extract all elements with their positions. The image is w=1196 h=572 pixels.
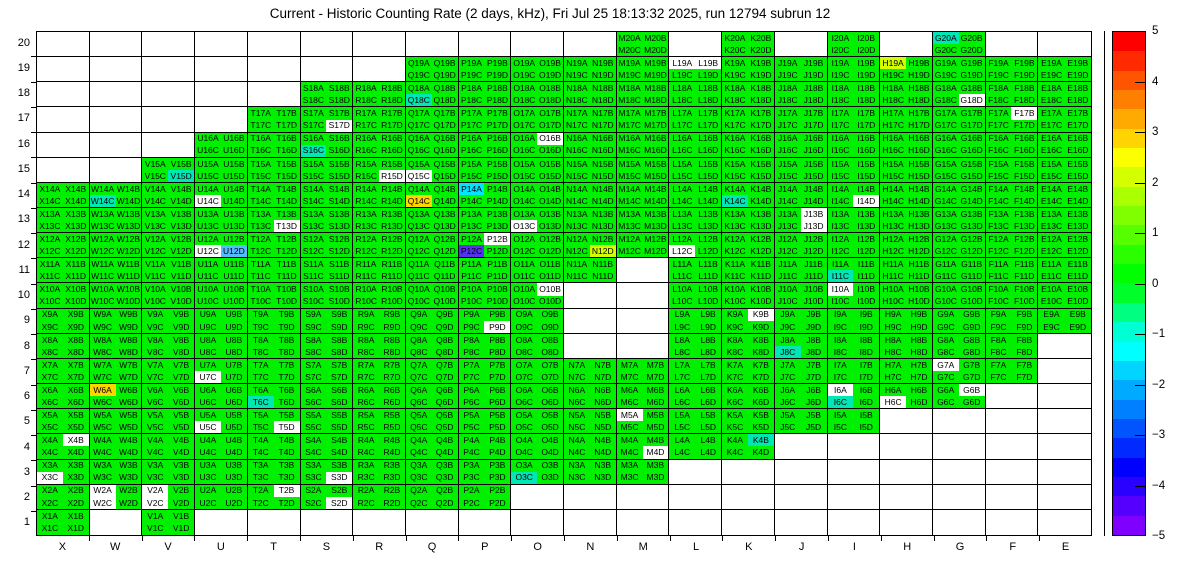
detector-channel[interactable]: U11B xyxy=(221,258,247,270)
detector-channel[interactable]: I12B xyxy=(853,233,879,245)
detector-channel[interactable]: M7C xyxy=(617,371,643,383)
detector-channel[interactable]: W3D xyxy=(116,472,142,484)
detector-channel[interactable]: L12A xyxy=(669,233,695,245)
detector-channel[interactable]: U16A xyxy=(195,133,221,145)
detector-channel[interactable]: V7B xyxy=(168,359,194,371)
detector-channel[interactable]: Q9C xyxy=(406,321,432,333)
detector-channel[interactable]: O17D xyxy=(537,120,563,132)
detector-channel[interactable]: K20D xyxy=(748,44,774,56)
detector-channel[interactable]: U14B xyxy=(221,183,247,195)
detector-channel[interactable]: N17C xyxy=(564,120,590,132)
detector-channel[interactable]: X5C xyxy=(37,421,63,433)
detector-module[interactable]: X5AX5BX5CX5D xyxy=(37,409,90,434)
detector-channel[interactable]: Q3C xyxy=(406,472,432,484)
detector-channel[interactable]: O12D xyxy=(537,245,563,257)
detector-module[interactable]: T4AT4BT4CT4D xyxy=(248,434,301,459)
detector-channel[interactable]: G20D xyxy=(959,44,985,56)
detector-module[interactable]: K15AK15BK15CK15D xyxy=(722,158,775,183)
detector-channel[interactable]: R17C xyxy=(353,120,379,132)
detector-channel[interactable]: R5A xyxy=(353,409,379,421)
detector-channel[interactable]: N5C xyxy=(564,421,590,433)
detector-channel[interactable]: R13A xyxy=(353,208,379,220)
detector-channel[interactable]: U4C xyxy=(195,446,221,458)
detector-channel[interactable]: N12A xyxy=(564,233,590,245)
detector-channel[interactable]: L15C xyxy=(669,170,695,182)
detector-channel[interactable]: J18D xyxy=(801,94,827,106)
detector-channel[interactable]: I18C xyxy=(828,94,854,106)
detector-channel[interactable]: O12B xyxy=(537,233,563,245)
detector-channel[interactable]: Q9D xyxy=(432,321,458,333)
detector-channel[interactable]: I11B xyxy=(853,258,879,270)
detector-channel[interactable]: R18D xyxy=(379,94,405,106)
detector-channel[interactable]: O10D xyxy=(537,296,563,308)
detector-channel[interactable]: J10A xyxy=(775,283,801,295)
detector-channel[interactable]: Q11C xyxy=(406,270,432,282)
detector-channel[interactable]: V7A xyxy=(142,359,168,371)
detector-channel[interactable]: R9B xyxy=(379,309,405,321)
detector-channel[interactable]: F9B xyxy=(1011,309,1037,321)
detector-module[interactable]: S17AS17BS17CS17D xyxy=(301,107,354,132)
detector-channel[interactable]: U8B xyxy=(221,334,247,346)
detector-channel[interactable]: N11A xyxy=(564,258,590,270)
detector-channel[interactable]: S6D xyxy=(326,396,352,408)
detector-channel[interactable]: G7A xyxy=(933,359,959,371)
detector-channel[interactable]: V14B xyxy=(168,183,194,195)
detector-channel[interactable]: X4C xyxy=(37,446,63,458)
detector-channel[interactable]: I13C xyxy=(828,220,854,232)
detector-channel[interactable]: T3B xyxy=(274,460,300,472)
detector-channel[interactable]: L18D xyxy=(695,94,721,106)
detector-channel[interactable]: O4C xyxy=(511,446,537,458)
detector-channel[interactable]: M17B xyxy=(643,107,669,119)
detector-channel[interactable]: K12B xyxy=(748,233,774,245)
detector-channel[interactable]: S6B xyxy=(326,384,352,396)
detector-module[interactable]: U10AU10BU10CU10D xyxy=(195,283,248,308)
detector-channel[interactable]: F11B xyxy=(1011,258,1037,270)
detector-channel[interactable]: O7A xyxy=(511,359,537,371)
detector-channel[interactable]: G9A xyxy=(933,309,959,321)
detector-channel[interactable]: P2C xyxy=(459,497,485,509)
detector-channel[interactable]: M16B xyxy=(643,133,669,145)
detector-channel[interactable]: H6B xyxy=(906,384,932,396)
detector-channel[interactable]: Q2A xyxy=(406,485,432,497)
detector-module[interactable]: J12AJ12BJ12CJ12D xyxy=(775,233,828,258)
detector-channel[interactable]: P5A xyxy=(459,409,485,421)
detector-channel[interactable]: Q8C xyxy=(406,346,432,358)
detector-module[interactable]: Q14AQ14BQ14CQ14D xyxy=(406,183,459,208)
detector-channel[interactable]: X1A xyxy=(37,510,63,523)
detector-channel[interactable]: F15C xyxy=(986,170,1012,182)
detector-channel[interactable]: K18C xyxy=(722,94,748,106)
detector-channel[interactable]: I11C xyxy=(828,270,854,282)
detector-channel[interactable]: P12B xyxy=(484,233,510,245)
detector-channel[interactable]: U4B xyxy=(221,434,247,446)
detector-module[interactable]: T13AT13BT13CT13D xyxy=(248,208,301,233)
detector-channel[interactable]: N13A xyxy=(564,208,590,220)
detector-channel[interactable]: R7C xyxy=(353,371,379,383)
detector-channel[interactable]: J7C xyxy=(775,371,801,383)
detector-module[interactable]: M3AM3BM3CM3D xyxy=(617,460,670,485)
detector-channel[interactable]: S3C xyxy=(301,472,327,484)
detector-channel[interactable]: J13B xyxy=(801,208,827,220)
detector-channel[interactable]: H10A xyxy=(880,283,906,295)
detector-channel[interactable]: E10C xyxy=(1038,296,1064,308)
detector-module[interactable]: K6AK6BK6CK6D xyxy=(722,384,775,409)
detector-channel[interactable]: I12D xyxy=(853,245,879,257)
detector-channel[interactable]: T6A xyxy=(248,384,274,396)
detector-channel[interactable]: P7D xyxy=(484,371,510,383)
detector-channel[interactable]: J7A xyxy=(775,359,801,371)
detector-channel[interactable]: G11A xyxy=(933,258,959,270)
detector-channel[interactable]: H13D xyxy=(906,220,932,232)
detector-module[interactable]: U6AU6BU6CU6D xyxy=(195,384,248,409)
detector-channel[interactable]: K15C xyxy=(722,170,748,182)
detector-module[interactable]: J11AJ11BJ11CJ11D xyxy=(775,258,828,283)
detector-channel[interactable]: P15C xyxy=(459,170,485,182)
detector-channel[interactable]: N16C xyxy=(564,145,590,157)
detector-channel[interactable]: S8C xyxy=(301,346,327,358)
detector-channel[interactable]: L8C xyxy=(669,346,695,358)
detector-channel[interactable]: U11A xyxy=(195,258,221,270)
detector-channel[interactable]: V15A xyxy=(142,158,168,170)
detector-channel[interactable]: I15B xyxy=(853,158,879,170)
detector-channel[interactable]: F18A xyxy=(986,82,1012,94)
detector-module[interactable]: G17AG17BG17CG17D xyxy=(933,107,986,132)
detector-module[interactable]: T7AT7BT7CT7D xyxy=(248,359,301,384)
detector-channel[interactable]: T13D xyxy=(274,220,300,232)
detector-channel[interactable]: H19A xyxy=(880,57,906,69)
detector-channel[interactable]: P13B xyxy=(484,208,510,220)
detector-channel[interactable]: I18D xyxy=(853,94,879,106)
detector-module[interactable]: E10AE10BE10CE10D xyxy=(1038,283,1091,308)
detector-channel[interactable]: R2D xyxy=(379,497,405,509)
detector-module[interactable]: K13AK13BK13CK13D xyxy=(722,208,775,233)
detector-channel[interactable]: Q5B xyxy=(432,409,458,421)
detector-channel[interactable]: S2A xyxy=(301,485,327,497)
detector-channel[interactable]: T15C xyxy=(248,170,274,182)
detector-channel[interactable]: H15D xyxy=(906,170,932,182)
detector-channel[interactable]: P16A xyxy=(459,133,485,145)
detector-channel[interactable]: L4A xyxy=(669,434,695,446)
detector-channel[interactable]: K14A xyxy=(722,183,748,195)
detector-channel[interactable]: G13D xyxy=(959,220,985,232)
detector-module[interactable]: O15AO15BO15CO15D xyxy=(511,158,564,183)
detector-channel[interactable]: G17A xyxy=(933,107,959,119)
detector-channel[interactable]: V15D xyxy=(168,170,194,182)
detector-channel[interactable]: U6C xyxy=(195,396,221,408)
detector-module[interactable]: P11AP11BP11CP11D xyxy=(459,258,512,283)
detector-channel[interactable]: T9A xyxy=(248,309,274,321)
detector-channel[interactable]: O11D xyxy=(537,270,563,282)
detector-channel[interactable]: F13C xyxy=(986,220,1012,232)
detector-channel[interactable]: Q19A xyxy=(406,57,432,69)
detector-channel[interactable]: M3C xyxy=(617,472,643,484)
detector-module[interactable]: O5AO5BO5CO5D xyxy=(511,409,564,434)
detector-channel[interactable]: U8C xyxy=(195,346,221,358)
detector-channel[interactable]: W14C xyxy=(90,195,116,207)
detector-channel[interactable]: I19B xyxy=(853,57,879,69)
detector-channel[interactable]: K14C xyxy=(722,195,748,207)
detector-channel[interactable]: G12C xyxy=(933,245,959,257)
detector-channel[interactable]: U2C xyxy=(195,497,221,509)
detector-channel[interactable]: P6A xyxy=(459,384,485,396)
detector-module[interactable]: O8AO8BO8CO8D xyxy=(511,334,564,359)
detector-channel[interactable]: R6D xyxy=(379,396,405,408)
detector-channel[interactable]: G14C xyxy=(933,195,959,207)
detector-channel[interactable]: K17D xyxy=(748,120,774,132)
detector-channel[interactable]: J12B xyxy=(801,233,827,245)
detector-channel[interactable]: Q14B xyxy=(432,183,458,195)
detector-module[interactable]: U13AU13BU13CU13D xyxy=(195,208,248,233)
detector-channel[interactable]: Q2C xyxy=(406,497,432,509)
detector-channel[interactable]: F8B xyxy=(1011,334,1037,346)
detector-channel[interactable]: M20A xyxy=(617,32,643,44)
detector-channel[interactable]: J6C xyxy=(775,396,801,408)
detector-channel[interactable]: J8C xyxy=(775,346,801,358)
detector-channel[interactable]: R16C xyxy=(353,145,379,157)
detector-channel[interactable]: T15D xyxy=(274,170,300,182)
detector-channel[interactable]: G10A xyxy=(933,283,959,295)
detector-channel[interactable]: X12D xyxy=(63,245,89,257)
detector-module[interactable]: U11AU11BU11CU11D xyxy=(195,258,248,283)
detector-channel[interactable]: E11D xyxy=(1065,270,1091,282)
detector-channel[interactable]: N14B xyxy=(590,183,616,195)
detector-module[interactable]: O14AO14BO14CO14D xyxy=(511,183,564,208)
detector-channel[interactable]: G19C xyxy=(933,69,959,81)
detector-channel[interactable]: Q5C xyxy=(406,421,432,433)
detector-channel[interactable]: X9D xyxy=(63,321,89,333)
detector-channel[interactable]: I5B xyxy=(853,409,879,421)
detector-module[interactable]: Q17AQ17BQ17CQ17D xyxy=(406,107,459,132)
detector-channel[interactable]: V14A xyxy=(142,183,168,195)
detector-channel[interactable]: E9B xyxy=(1065,309,1091,321)
detector-channel[interactable]: W4A xyxy=(90,434,116,446)
detector-channel[interactable]: G6D xyxy=(959,396,985,408)
detector-channel[interactable]: M14D xyxy=(643,195,669,207)
detector-channel[interactable]: J18A xyxy=(775,82,801,94)
detector-channel[interactable]: E13C xyxy=(1038,220,1064,232)
detector-channel[interactable]: S5A xyxy=(301,409,327,421)
detector-channel[interactable]: W10B xyxy=(116,283,142,295)
detector-module[interactable]: V7AV7BV7CV7D xyxy=(142,359,195,384)
detector-module[interactable]: H11AH11BH11CH11D xyxy=(880,258,933,283)
detector-channel[interactable]: N11D xyxy=(590,270,616,282)
detector-channel[interactable]: F10C xyxy=(986,296,1012,308)
detector-channel[interactable]: T3D xyxy=(274,472,300,484)
detector-channel[interactable]: K16D xyxy=(748,145,774,157)
detector-channel[interactable]: U7D xyxy=(221,371,247,383)
detector-channel[interactable]: J16A xyxy=(775,133,801,145)
detector-channel[interactable]: E17C xyxy=(1038,120,1064,132)
detector-channel[interactable]: R16B xyxy=(379,133,405,145)
detector-channel[interactable]: L4C xyxy=(669,446,695,458)
detector-channel[interactable]: W9B xyxy=(116,309,142,321)
detector-channel[interactable]: F16B xyxy=(1011,133,1037,145)
detector-channel[interactable]: H9A xyxy=(880,309,906,321)
detector-channel[interactable]: I16C xyxy=(828,145,854,157)
detector-module[interactable]: E13AE13BE13CE13D xyxy=(1038,208,1091,233)
detector-channel[interactable]: H18A xyxy=(880,82,906,94)
detector-channel[interactable]: X3A xyxy=(37,460,63,472)
detector-channel[interactable]: E9A xyxy=(1038,309,1064,321)
detector-module[interactable]: P10AP10BP10CP10D xyxy=(459,283,512,308)
detector-channel[interactable]: Q18A xyxy=(406,82,432,94)
detector-module[interactable]: I11AI11BI11CI11D xyxy=(828,258,881,283)
detector-channel[interactable]: P14A xyxy=(459,183,485,195)
detector-channel[interactable]: N3A xyxy=(564,460,590,472)
detector-channel[interactable]: H18D xyxy=(906,94,932,106)
detector-channel[interactable]: H14B xyxy=(906,183,932,195)
detector-channel[interactable]: J8A xyxy=(775,334,801,346)
detector-channel[interactable]: G8C xyxy=(933,346,959,358)
detector-channel[interactable]: R17D xyxy=(379,120,405,132)
detector-channel[interactable]: M4D xyxy=(643,446,669,458)
detector-channel[interactable]: M15B xyxy=(643,158,669,170)
detector-channel[interactable]: V4D xyxy=(168,446,194,458)
detector-module[interactable]: S5AS5BS5CS5D xyxy=(301,409,354,434)
detector-channel[interactable]: O4D xyxy=(537,446,563,458)
detector-channel[interactable]: L9C xyxy=(669,321,695,333)
detector-module[interactable]: E14AE14BE14CE14D xyxy=(1038,183,1091,208)
detector-channel[interactable]: K10D xyxy=(748,296,774,308)
detector-channel[interactable]: H17A xyxy=(880,107,906,119)
detector-channel[interactable]: P3D xyxy=(484,472,510,484)
detector-channel[interactable]: F14B xyxy=(1011,183,1037,195)
detector-module[interactable]: U16AU16BU16CU16D xyxy=(195,133,248,158)
detector-channel[interactable]: P11C xyxy=(459,270,485,282)
detector-channel[interactable]: W7C xyxy=(90,371,116,383)
detector-module[interactable]: S11AS11BS11CS11D xyxy=(301,258,354,283)
detector-channel[interactable]: W6C xyxy=(90,396,116,408)
detector-channel[interactable]: K13C xyxy=(722,220,748,232)
detector-channel[interactable]: R12B xyxy=(379,233,405,245)
detector-channel[interactable]: E10B xyxy=(1065,283,1091,295)
detector-channel[interactable]: L6B xyxy=(695,384,721,396)
detector-channel[interactable]: L13C xyxy=(669,220,695,232)
detector-module[interactable]: W3AW3BW3CW3D xyxy=(90,460,143,485)
detector-channel[interactable]: T12B xyxy=(274,233,300,245)
detector-channel[interactable]: Q2B xyxy=(432,485,458,497)
detector-module[interactable]: N15AN15BN15CN15D xyxy=(564,158,617,183)
detector-channel[interactable]: J6D xyxy=(801,396,827,408)
detector-channel[interactable]: Q17B xyxy=(432,107,458,119)
detector-channel[interactable]: O5D xyxy=(537,421,563,433)
detector-channel[interactable]: K19B xyxy=(748,57,774,69)
detector-channel[interactable]: S15A xyxy=(301,158,327,170)
detector-module[interactable]: N17AN17BN17CN17D xyxy=(564,107,617,132)
detector-module[interactable]: S6AS6BS6CS6D xyxy=(301,384,354,409)
detector-channel[interactable]: T17C xyxy=(248,120,274,132)
detector-module[interactable]: N12AN12BN12CN12D xyxy=(564,233,617,258)
detector-channel[interactable]: H10C xyxy=(880,296,906,308)
detector-channel[interactable]: U16B xyxy=(221,133,247,145)
detector-channel[interactable]: N4A xyxy=(564,434,590,446)
detector-channel[interactable]: M15A xyxy=(617,158,643,170)
detector-channel[interactable]: M6B xyxy=(643,384,669,396)
detector-channel[interactable]: T16B xyxy=(274,133,300,145)
detector-channel[interactable]: E15C xyxy=(1038,170,1064,182)
detector-channel[interactable]: O19A xyxy=(511,57,537,69)
detector-channel[interactable]: R8A xyxy=(353,334,379,346)
detector-channel[interactable]: S2D xyxy=(326,497,352,509)
detector-channel[interactable]: E12D xyxy=(1065,245,1091,257)
detector-module[interactable]: O7AO7BO7CO7D xyxy=(511,359,564,384)
detector-channel[interactable]: O3C xyxy=(511,472,537,484)
detector-channel[interactable]: V5A xyxy=(142,409,168,421)
detector-channel[interactable]: R16D xyxy=(379,145,405,157)
detector-channel[interactable]: J7B xyxy=(801,359,827,371)
detector-module[interactable]: Q13AQ13BQ13CQ13D xyxy=(406,208,459,233)
detector-channel[interactable]: J17D xyxy=(801,120,827,132)
detector-channel[interactable]: V9A xyxy=(142,309,168,321)
detector-module[interactable]: X10AX10BX10CX10D xyxy=(37,283,90,308)
detector-channel[interactable]: M16C xyxy=(617,145,643,157)
detector-channel[interactable]: L9A xyxy=(669,309,695,321)
detector-channel[interactable]: K7D xyxy=(748,371,774,383)
detector-channel[interactable]: N11C xyxy=(564,270,590,282)
detector-channel[interactable]: X7D xyxy=(63,371,89,383)
detector-module[interactable]: X1AX1BX1CX1D xyxy=(37,510,90,535)
detector-channel[interactable]: X12C xyxy=(37,245,63,257)
detector-channel[interactable]: V3D xyxy=(168,472,194,484)
detector-channel[interactable]: S14D xyxy=(326,195,352,207)
detector-channel[interactable]: G8A xyxy=(933,334,959,346)
detector-channel[interactable]: K8C xyxy=(722,346,748,358)
detector-module[interactable]: V8AV8BV8CV8D xyxy=(142,334,195,359)
detector-channel[interactable]: T4B xyxy=(274,434,300,446)
detector-channel[interactable]: N17A xyxy=(564,107,590,119)
detector-channel[interactable]: L15B xyxy=(695,158,721,170)
detector-channel[interactable]: G9D xyxy=(959,321,985,333)
detector-module[interactable]: G10AG10BG10CG10D xyxy=(933,283,986,308)
detector-channel[interactable]: N7B xyxy=(590,359,616,371)
detector-channel[interactable]: X5A xyxy=(37,409,63,421)
detector-channel[interactable]: T8D xyxy=(274,346,300,358)
detector-channel[interactable]: F7D xyxy=(1011,371,1037,383)
detector-channel[interactable]: R15B xyxy=(379,158,405,170)
detector-channel[interactable]: V8C xyxy=(142,346,168,358)
detector-channel[interactable]: X1C xyxy=(37,522,63,535)
detector-channel[interactable]: P5D xyxy=(484,421,510,433)
detector-channel[interactable]: W4D xyxy=(116,446,142,458)
detector-channel[interactable]: L5D xyxy=(695,421,721,433)
detector-channel[interactable]: I9A xyxy=(828,309,854,321)
detector-channel[interactable]: K8D xyxy=(748,346,774,358)
detector-channel[interactable]: X2C xyxy=(37,497,63,509)
detector-channel[interactable]: W13C xyxy=(90,220,116,232)
detector-channel[interactable]: H14C xyxy=(880,195,906,207)
detector-module[interactable]: L17AL17BL17CL17D xyxy=(669,107,722,132)
detector-channel[interactable]: K6D xyxy=(748,396,774,408)
detector-channel[interactable]: J17A xyxy=(775,107,801,119)
detector-channel[interactable]: S14B xyxy=(326,183,352,195)
detector-channel[interactable]: J19A xyxy=(775,57,801,69)
detector-module[interactable]: F10AF10BF10CF10D xyxy=(986,283,1039,308)
detector-channel[interactable]: V3C xyxy=(142,472,168,484)
detector-channel[interactable]: S9B xyxy=(326,309,352,321)
detector-channel[interactable]: G18A xyxy=(933,82,959,94)
detector-channel[interactable]: Q2D xyxy=(432,497,458,509)
detector-channel[interactable]: R4B xyxy=(379,434,405,446)
detector-channel[interactable]: R3C xyxy=(353,472,379,484)
detector-channel[interactable]: L9B xyxy=(695,309,721,321)
detector-channel[interactable]: Q19C xyxy=(406,69,432,81)
detector-channel[interactable]: J15B xyxy=(801,158,827,170)
detector-channel[interactable]: U16D xyxy=(221,145,247,157)
detector-module[interactable]: P7AP7BP7CP7D xyxy=(459,359,512,384)
detector-module[interactable]: K9AK9BK9CK9D xyxy=(722,309,775,334)
detector-module[interactable]: X6AX6BX6CX6D xyxy=(37,384,90,409)
